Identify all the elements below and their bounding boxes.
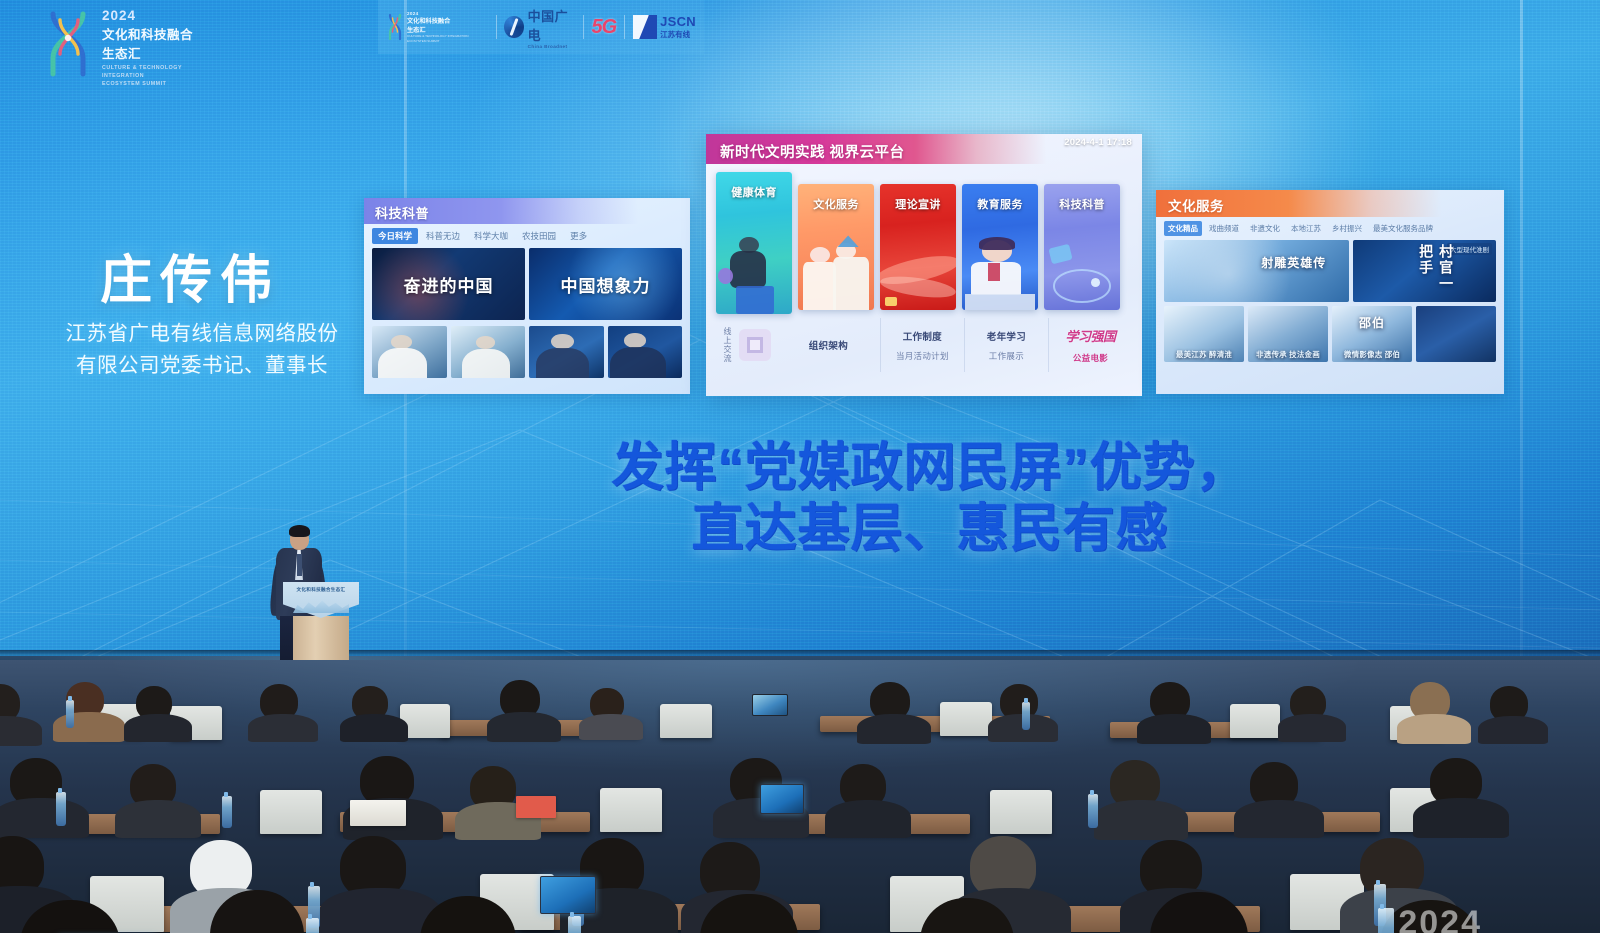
tab-culture-highlights[interactable]: 文化精品 (1164, 221, 1202, 236)
scene-watermark: 2024 (1398, 904, 1482, 933)
feature-grid: 奋进的中国 中国想象力 (364, 247, 690, 326)
summit-cn-line1: 文化和科技融合 (102, 24, 214, 43)
slide-panel-civilization-cloud: 新时代文明实践 视界云平台 2024-4-1 17:18 健康体育 文化服务 (706, 134, 1142, 396)
category-label: 科技科普 (1044, 196, 1120, 212)
feature-grid: 射雕英雄传 大型现代淮剧 村官一把手 (1156, 239, 1504, 306)
shortcut-online-exchange[interactable]: 线上交流 组织架构 (716, 318, 881, 372)
thumbnail-caption: 非遗传承 技法金画 (1248, 349, 1328, 360)
summit-dna-mark-icon (40, 8, 96, 80)
qr-code-icon[interactable] (739, 329, 771, 361)
tab-intangible-heritage[interactable]: 非遗文化 (1246, 221, 1284, 236)
panel-title: 科技科普 (375, 203, 429, 222)
sponsor-summit-en: CULTURE & TECHNOLOGY INTEGRATION ECOSYST… (407, 34, 488, 43)
shortcut-work-system[interactable]: 工作制度 当月活动计划 (881, 318, 965, 372)
thumbnail-item[interactable]: 最美江苏 醉清淮 (1164, 306, 1244, 362)
summit-year: 2024 (102, 8, 214, 23)
china-broadnet-mark-icon (504, 16, 523, 38)
panel-tab-bar: 今日科学 科普无边 科学大咖 农技田园 更多 (364, 224, 690, 247)
online-exchange-label: 线上交流 (722, 327, 733, 363)
speaker-organization: 江苏省广电有线信息网络股份有限公司党委书记、董事长 (57, 318, 347, 382)
tab-rural-revitalization[interactable]: 乡村振兴 (1328, 221, 1366, 236)
photo-stage-scene: 2024 文化和科技融合 生态汇 CULTURE & TECHNOLOGY IN… (0, 0, 1600, 933)
audience-tablet (760, 784, 804, 814)
slide-panel-culture-service: 文化服务 文化精品 戏曲频道 非遗文化 本地江苏 乡村振兴 最美文化服务品牌 射… (1156, 190, 1504, 394)
category-card-culture-service[interactable]: 文化服务 (798, 184, 874, 310)
panel-timestamp: 2024-4-1 17:18 (1064, 137, 1132, 148)
tab-science-stars[interactable]: 科学大咖 (468, 228, 514, 244)
headline-line-1: 发挥“党媒政网民屏”优势， (611, 439, 1248, 497)
tab-best-culture-brand[interactable]: 最美文化服务品牌 (1369, 221, 1437, 236)
shortcut-public-film[interactable]: 公益电影 (1073, 352, 1108, 364)
sponsor-jscn: JSCN 江苏有线 (625, 0, 704, 54)
water-bottle (1088, 794, 1098, 828)
category-card-science-popularization[interactable]: 科技科普 (1044, 184, 1120, 310)
slide-headline: 发挥“党媒政网民屏”优势， 直达基层、惠民有感 (560, 438, 1300, 560)
shortcut-senior-learning[interactable]: 老年学习 工作展示 (965, 318, 1049, 372)
thumbnail-item[interactable] (608, 326, 683, 378)
thumbnail-grid: 最美江苏 醉清淮 非遗传承 技法金画 邵伯 微情影像志 邵伯 (1156, 306, 1504, 370)
sponsor-summit-cn2: 生态汇 (407, 25, 488, 34)
water-bottle (568, 916, 581, 933)
feature-card[interactable]: 大型现代淮剧 村官一把手 (1353, 240, 1496, 302)
water-bottle (222, 796, 232, 828)
tab-local-jiangsu[interactable]: 本地江苏 (1287, 221, 1325, 236)
sponsor-china-broadnet: 中国广电 China Broadnet (496, 0, 582, 54)
summit-logo: 2024 文化和科技融合 生态汇 CULTURE & TECHNOLOGY IN… (36, 2, 216, 88)
tab-agritech-field[interactable]: 农技田园 (516, 228, 562, 244)
handout-paper (350, 800, 406, 826)
china-broadnet-en: China Broadnet (528, 44, 575, 49)
tab-opera-channel[interactable]: 戏曲频道 (1205, 221, 1243, 236)
red-folder (516, 796, 556, 818)
panel-tab-bar: 文化精品 戏曲频道 非遗文化 本地江苏 乡村振兴 最美文化服务品牌 (1156, 217, 1504, 239)
thumbnail-item[interactable] (372, 326, 447, 378)
red-ribbon-illustration (880, 237, 956, 310)
category-card-row: 健康体育 文化服务 理论宣讲 (706, 164, 1142, 318)
shortcut-label-top: 老年学习 (987, 329, 1026, 343)
athlete-illustration (716, 232, 792, 314)
summit-dna-mark-icon (386, 12, 404, 42)
china-broadnet-cn: 中国广电 (528, 6, 575, 44)
category-card-education-service[interactable]: 教育服务 (962, 184, 1038, 310)
shortcut-org-structure[interactable]: 组织架构 (777, 338, 880, 352)
headline-line-2: 直达基层、惠民有感 (560, 499, 1300, 560)
jscn-en: JSCN (660, 14, 696, 29)
opera-performers-illustration (798, 237, 874, 310)
feature-card[interactable]: 中国想象力 (529, 248, 682, 320)
tab-more[interactable]: 更多 (564, 228, 593, 244)
speaker-name: 庄传伟 (100, 238, 280, 313)
shortcut-label-bottom: 工作展示 (989, 350, 1024, 362)
category-label: 健康体育 (716, 184, 792, 200)
water-bottle (1378, 908, 1394, 933)
category-card-theory-lecture[interactable]: 理论宣讲 (880, 184, 956, 310)
category-label: 文化服务 (798, 196, 874, 212)
sponsor-summit-cn1: 文化和科技融合 (407, 16, 488, 25)
category-label: 教育服务 (962, 196, 1038, 212)
shortcut-label-bottom: 当月活动计划 (896, 350, 949, 362)
thumbnail-caption: 最美江苏 醉清淮 (1164, 349, 1244, 360)
thumbnail-item[interactable]: 非遗传承 技法金画 (1248, 306, 1328, 362)
sponsor-summit-logo: 2024 文化和科技融合 生态汇 CULTURE & TECHNOLOGY IN… (378, 0, 496, 54)
feature-title: 村官一把手 (1416, 244, 1456, 302)
thumbnail-item[interactable] (451, 326, 526, 378)
jscn-cn: 江苏有线 (660, 29, 696, 40)
water-bottle (56, 792, 66, 826)
panel-header: 文化服务 (1156, 190, 1504, 217)
panel-header: 新时代文明实践 视界云平台 2024-4-1 17:18 (706, 134, 1142, 164)
slide-panel-science-popularization: 科技科普 今日科学 科普无边 科学大咖 农技田园 更多 奋进的中国 中国想象力 (364, 198, 690, 394)
category-label: 理论宣讲 (880, 196, 956, 212)
xuexi-qiangguo-logo: 学习强国 (1065, 326, 1115, 345)
audience-tablet (540, 876, 596, 914)
feature-card[interactable]: 射雕英雄传 (1164, 240, 1349, 302)
5g-logo: 5G (592, 16, 617, 39)
sponsor-logo-bar: 2024 文化和科技融合 生态汇 CULTURE & TECHNOLOGY IN… (378, 0, 704, 54)
summit-cn-line2: 生态汇 (102, 43, 214, 62)
tab-science-boundless[interactable]: 科普无边 (420, 228, 466, 244)
speaker-hair (289, 525, 310, 537)
water-bottle (1022, 702, 1030, 730)
thumbnail-item[interactable]: 邵伯 微情影像志 邵伯 (1332, 306, 1412, 362)
tech-orbit-illustration (1044, 237, 1120, 310)
water-bottle (66, 700, 74, 728)
panel-title: 文化服务 (1168, 195, 1224, 215)
sponsor-5g: 5G (584, 0, 625, 54)
panel-header: 科技科普 (364, 198, 690, 224)
feature-card[interactable]: 奋进的中国 (372, 248, 525, 320)
thumbnail-grid (364, 326, 690, 386)
tab-today-science[interactable]: 今日科学 (372, 228, 418, 244)
thumbnail-item[interactable] (529, 326, 604, 378)
thumbnail-item[interactable] (1416, 306, 1496, 362)
speaker-tie (297, 554, 302, 576)
shortcut-label-top: 工作制度 (903, 329, 942, 343)
water-bottle (306, 918, 319, 933)
category-card-health-sports[interactable]: 健康体育 (716, 172, 792, 314)
thumbnail-caption: 微情影像志 邵伯 (1332, 349, 1412, 360)
summit-en-lines: CULTURE & TECHNOLOGY INTEGRATION ECOSYST… (102, 64, 214, 89)
podium-sign-text: 文化和科技融合生态汇 (290, 587, 352, 593)
student-illustration (962, 237, 1038, 310)
shortcut-xuexi-qiangguo[interactable]: 学习强国 公益电影 (1049, 318, 1132, 372)
jscn-mark-icon (633, 15, 657, 39)
audience-area: 2024 (0, 660, 1600, 933)
thumbnail-title: 邵伯 (1332, 314, 1412, 331)
feature-title: 射雕英雄传 (1242, 254, 1346, 271)
feature-title: 奋进的中国 (372, 248, 525, 320)
feature-title: 中国想象力 (529, 248, 682, 320)
audience-phone (752, 694, 788, 716)
panel-title: 新时代文明实践 视界云平台 (720, 141, 905, 162)
service-shortcut-row: 线上交流 组织架构 工作制度 当月活动计划 老年学习 工作展示 学习强国 公益电… (706, 318, 1142, 378)
